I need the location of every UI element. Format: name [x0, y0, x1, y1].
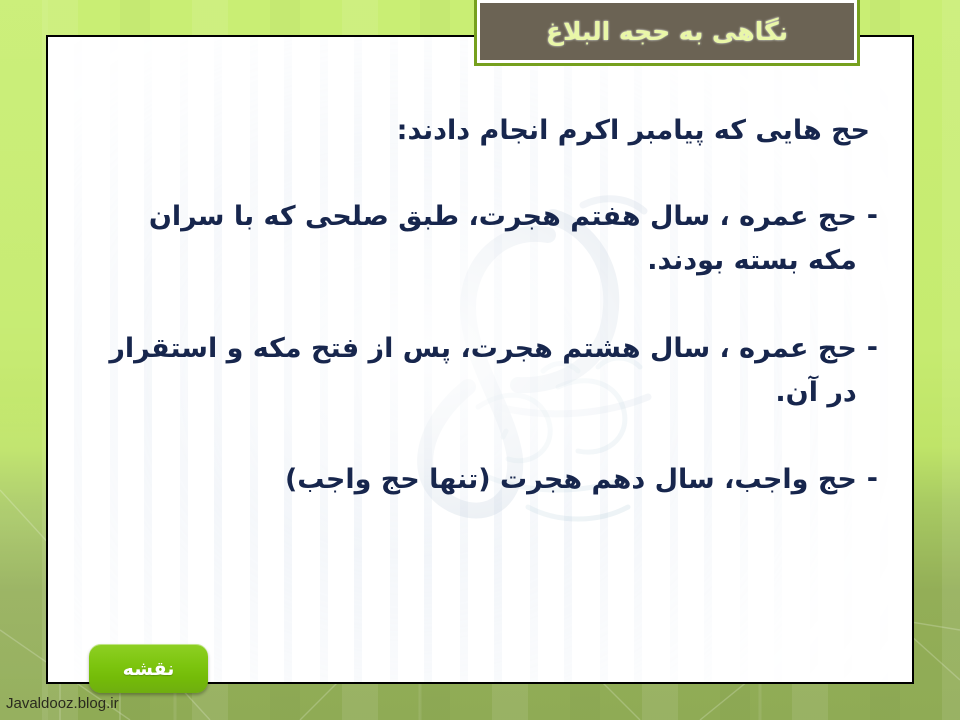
slide-title-plaque-inner: نگاهی به حجه البلاغ [480, 3, 854, 60]
bullet-text-2: حج عمره ، سال هشتم هجرت، پس از فتح مکه و… [100, 327, 857, 414]
bullet-text-1: حج عمره ، سال هفتم هجرت، طبق صلحی که با … [100, 195, 857, 282]
bullet-marker: - [857, 195, 878, 237]
bullet-item-3: - حج واجب، سال دهم هجرت (تنها حج واجب) [100, 458, 878, 502]
slide-title-plaque: نگاهی به حجه البلاغ [474, 0, 860, 66]
map-button-label: نقشه [123, 658, 175, 680]
bullet-marker: - [857, 458, 878, 500]
slide-body: حج هایی که پیامبر اکرم انجام دادند: - حج… [48, 37, 914, 682]
slide-content-panel: حج هایی که پیامبر اکرم انجام دادند: - حج… [46, 35, 914, 684]
slide-heading: حج هایی که پیامبر اکرم انجام دادند: [100, 113, 878, 149]
map-button[interactable]: نقشه [89, 644, 208, 693]
bullet-text-3: حج واجب، سال دهم هجرت (تنها حج واجب) [100, 458, 857, 502]
presentation-slide: حج هایی که پیامبر اکرم انجام دادند: - حج… [0, 0, 960, 720]
bullet-item-1: - حج عمره ، سال هفتم هجرت، طبق صلحی که ب… [100, 195, 878, 282]
site-watermark: Javaldooz.blog.ir [6, 695, 119, 712]
bullet-marker: - [857, 327, 878, 369]
slide-title: نگاهی به حجه البلاغ [546, 17, 788, 46]
bullet-item-2: - حج عمره ، سال هشتم هجرت، پس از فتح مکه… [100, 327, 878, 414]
